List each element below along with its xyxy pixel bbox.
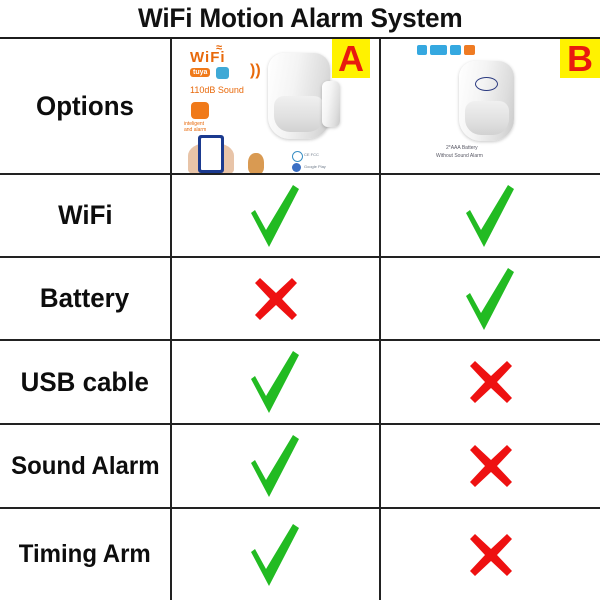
product-a-cat [248, 153, 264, 173]
product-b-icon-row [417, 45, 475, 55]
product-a-feature-icon [191, 102, 209, 119]
product-b-image: 2*AAA Battery Without Sound Alarm B [381, 39, 600, 173]
table-row-wifi: WiFi [0, 175, 600, 258]
row-header-options: Options [0, 39, 172, 173]
cell-sound-alarm-a [172, 425, 381, 507]
cell-wifi-b [381, 175, 600, 256]
cert-badge-icon-1 [292, 151, 303, 162]
cert-badge-text-2: Google Play [304, 164, 326, 169]
app-icon [450, 45, 461, 55]
product-a-photo-cell: WiFi ≈ tuya 110dB Sound inteligent and a… [172, 39, 381, 173]
product-a-device-side [322, 81, 340, 127]
row-label: Sound Alarm [11, 452, 159, 481]
table-row-options: Options WiFi ≈ tuya 110dB Sound intelige… [0, 39, 600, 175]
table-row-battery: Battery [0, 258, 600, 341]
row-header-usb-cable: USB cable [0, 341, 172, 423]
alarm-icon [464, 45, 475, 55]
product-b-device [459, 61, 514, 141]
cell-timing-arm-b [381, 509, 600, 600]
comparison-grid: Options WiFi ≈ tuya 110dB Sound intelige… [0, 39, 600, 600]
product-b-caption-2: Without Sound Alarm [436, 153, 483, 160]
row-header-battery: Battery [0, 258, 172, 339]
product-b-photo-cell: 2*AAA Battery Without Sound Alarm B [381, 39, 600, 173]
product-a-device-lens [274, 96, 324, 132]
cert-badge-icon-2 [292, 163, 301, 172]
cell-usb-cable-a [172, 341, 381, 423]
product-a-device [268, 53, 330, 139]
row-header-wifi: WiFi [0, 175, 172, 256]
product-a-badge: A [332, 39, 370, 78]
check-mark-icon [249, 183, 303, 249]
row-label: USB cable [21, 367, 149, 398]
wifi-signal-icon: ≈ [216, 43, 222, 54]
product-b-caption-1: 2*AAA Battery [446, 145, 478, 152]
wifi-signal-icon [417, 45, 427, 55]
check-mark-icon [464, 183, 518, 249]
cell-usb-cable-b [381, 341, 600, 423]
cross-mark-icon [466, 441, 516, 491]
product-b-device-lens [465, 101, 509, 135]
cell-wifi-a [172, 175, 381, 256]
cert-badge-text-1: CE FCC [304, 152, 319, 157]
check-mark-icon [464, 266, 518, 332]
app-icon [216, 67, 229, 79]
product-a-feature-note-2: and alarm [184, 128, 206, 134]
check-mark-icon [249, 522, 303, 588]
table-row-sound-alarm: Sound Alarm [0, 425, 600, 509]
comparison-table-page: WiFi Motion Alarm System Options WiFi ≈ … [0, 0, 600, 600]
row-header-sound-alarm: Sound Alarm [0, 425, 172, 507]
product-a-phone-screen [201, 138, 221, 170]
cross-mark-icon [466, 530, 516, 580]
cell-timing-arm-a [172, 509, 381, 600]
page-title-row: WiFi Motion Alarm System [0, 0, 600, 39]
cross-mark-icon [251, 274, 301, 324]
product-b-indicator [475, 77, 498, 91]
cell-battery-a [172, 258, 381, 339]
row-header-timing-arm: Timing Arm [0, 509, 172, 600]
check-mark-icon [249, 349, 303, 415]
product-a-image: WiFi ≈ tuya 110dB Sound inteligent and a… [172, 39, 379, 173]
check-mark-icon [249, 433, 303, 499]
table-row-timing-arm: Timing Arm [0, 509, 600, 600]
table-row-usb-cable: USB cable [0, 341, 600, 425]
cross-mark-icon [466, 357, 516, 407]
product-b-badge: B [560, 39, 600, 78]
sound-wave-icon: )) [250, 63, 261, 79]
cell-sound-alarm-b [381, 425, 600, 507]
product-a-phone [198, 135, 224, 173]
cell-battery-b [381, 258, 600, 339]
page-title: WiFi Motion Alarm System [138, 3, 462, 34]
tuya-logo-icon: tuya [190, 68, 210, 77]
wifi-badge-icon [430, 45, 447, 55]
row-label: Timing Arm [19, 540, 151, 569]
product-a-sound-label: 110dB Sound [190, 85, 244, 95]
row-label: Options [36, 91, 134, 122]
row-label: WiFi [58, 200, 112, 231]
row-label: Battery [40, 283, 129, 314]
